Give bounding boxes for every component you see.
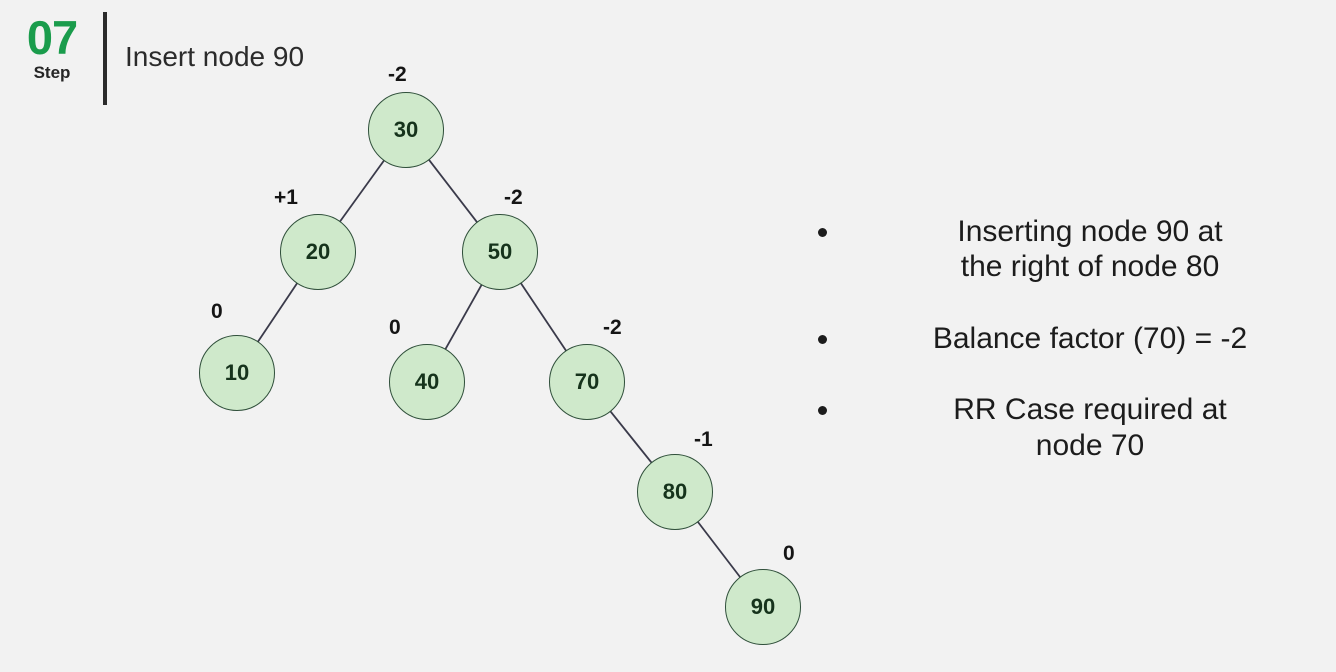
note-line: the right of node 80 [858,249,1322,284]
tree-edge-n50-n40 [445,284,482,349]
tree-node-label: 10 [225,360,249,386]
bullet-icon [818,335,827,344]
tree-node-90[interactable]: 90 [725,569,801,645]
bullet-icon [818,228,827,237]
tree-node-label: 20 [306,239,330,265]
bullet-icon [818,406,827,415]
notes-list: Inserting node 90 atthe right of node 80… [812,214,1322,499]
tree-node-40[interactable]: 40 [389,344,465,420]
tree-node-label: 90 [751,594,775,620]
tree-edge-n30-n50 [429,159,478,222]
tree-node-50[interactable]: 50 [462,214,538,290]
tree-node-label: 50 [488,239,512,265]
note-line: RR Case required at [858,392,1322,427]
balance-factor-40: 0 [389,316,401,340]
tree-edge-n70-n80 [610,411,652,463]
tree-edge-n30-n20 [340,160,385,222]
tree-node-80[interactable]: 80 [637,454,713,530]
tree-edge-n80-n90 [697,521,740,577]
balance-factor-90: 0 [783,542,795,566]
note-line: Balance factor (70) = -2 [858,321,1322,356]
slide-canvas: 07 Step Insert node 90 -230+120-25001004… [0,0,1336,672]
balance-factor-80: -1 [694,428,713,452]
tree-node-70[interactable]: 70 [549,344,625,420]
tree-node-20[interactable]: 20 [280,214,356,290]
note-item: RR Case required atnode 70 [812,392,1322,463]
note-item: Inserting node 90 atthe right of node 80 [812,214,1322,285]
avl-tree-diagram: -230+120-250010040-270-180090 [0,0,820,672]
balance-factor-10: 0 [211,300,223,324]
tree-node-label: 40 [415,369,439,395]
tree-edge-n50-n70 [521,283,567,352]
note-line: Inserting node 90 at [858,214,1322,249]
tree-node-label: 80 [663,479,687,505]
balance-factor-30: -2 [388,63,407,87]
tree-node-label: 30 [394,117,418,143]
note-item: Balance factor (70) = -2 [812,321,1322,356]
tree-node-label: 70 [575,369,599,395]
tree-node-10[interactable]: 10 [199,335,275,411]
tree-edge-n20-n10 [258,283,298,343]
tree-node-30[interactable]: 30 [368,92,444,168]
balance-factor-50: -2 [504,186,523,210]
balance-factor-70: -2 [603,316,622,340]
note-line: node 70 [858,428,1322,463]
balance-factor-20: +1 [274,186,298,210]
